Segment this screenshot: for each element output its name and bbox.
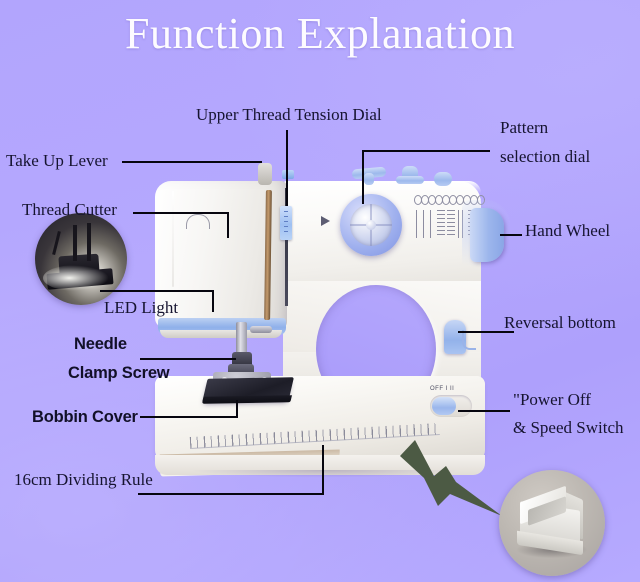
leader-bobbin-cover-horizontal <box>140 416 238 418</box>
led-inset-light-glow <box>43 265 109 291</box>
stitch-line <box>423 210 424 238</box>
label-pattern-selection-dial-line1: Pattern <box>500 118 548 137</box>
stitch-line <box>416 210 417 238</box>
label-power-switch-line1: "Power Off <box>513 390 591 409</box>
infographic-canvas: Function Explanation <box>0 0 640 582</box>
label-clamp-screw: Clamp Screw <box>68 364 169 383</box>
spool-pin-right <box>434 172 452 186</box>
label-take-up-lever: Take Up Lever <box>6 151 108 170</box>
machine-arm-highlight <box>283 181 481 193</box>
hand-wheel[interactable] <box>470 208 504 262</box>
label-led-light: LED Light <box>104 298 178 317</box>
label-upper-thread-tension-dial: Upper Thread Tension Dial <box>196 105 382 124</box>
leader-hand-wheel <box>500 234 522 236</box>
thread-guide-arch-icon <box>186 214 210 229</box>
bobbin-winder-base <box>396 176 424 184</box>
leader-thread-cutter-vertical <box>227 212 229 238</box>
label-dividing-rule: 16cm Dividing Rule <box>14 470 153 489</box>
pattern-selection-dial-hub <box>366 220 376 230</box>
upper-thread-tension-dial[interactable] <box>280 206 292 240</box>
leader-take-up-lever <box>122 161 262 163</box>
take-up-lever-guide <box>282 170 294 179</box>
leader-power-speed-switch <box>458 410 510 412</box>
spool-pin-left-post <box>364 173 374 185</box>
leader-thread-cutter-horizontal <box>133 212 229 214</box>
stitch-zigzag <box>437 210 445 236</box>
leader-pattern-dial-horizontal <box>362 150 490 152</box>
leader-needle-clamp-screw <box>140 358 236 360</box>
leader-bobbin-cover-vertical <box>236 400 238 417</box>
storage-drawer-inset-photo <box>499 470 605 576</box>
leader-pattern-dial-vertical <box>362 150 364 204</box>
stitch-line <box>430 210 431 238</box>
led-inset-needle <box>73 225 77 261</box>
label-thread-cutter: Thread Cutter <box>22 200 117 219</box>
leader-dividing-rule-horizontal <box>138 493 324 495</box>
label-pattern-selection-dial-line2: selection dial <box>500 147 590 166</box>
leader-led-light-vertical <box>212 290 214 312</box>
label-power-switch-line2: & Speed Switch <box>513 418 624 437</box>
label-bobbin-cover: Bobbin Cover <box>32 408 138 427</box>
label-reversal-bottom: Reversal bottom <box>504 313 616 332</box>
stitch-zigzag <box>447 210 455 236</box>
take-up-lever[interactable] <box>258 163 272 185</box>
label-needle: Needle <box>74 335 127 354</box>
reversal-arrow-icon <box>462 330 476 350</box>
label-hand-wheel: Hand Wheel <box>525 221 610 240</box>
needle-clamp-screw[interactable] <box>250 326 272 333</box>
leader-dividing-rule-vertical <box>322 445 324 494</box>
power-switch-markings: OFF I II <box>430 386 474 394</box>
led-inset-needle-bar <box>87 223 91 261</box>
power-speed-switch[interactable] <box>432 397 456 415</box>
led-inset-thread <box>52 231 61 255</box>
stitch-line <box>458 210 459 238</box>
dial-pointer-arrow-icon <box>321 216 330 226</box>
leader-led-light-horizontal <box>100 290 214 292</box>
leader-upper-thread-tension-dial <box>286 130 288 206</box>
